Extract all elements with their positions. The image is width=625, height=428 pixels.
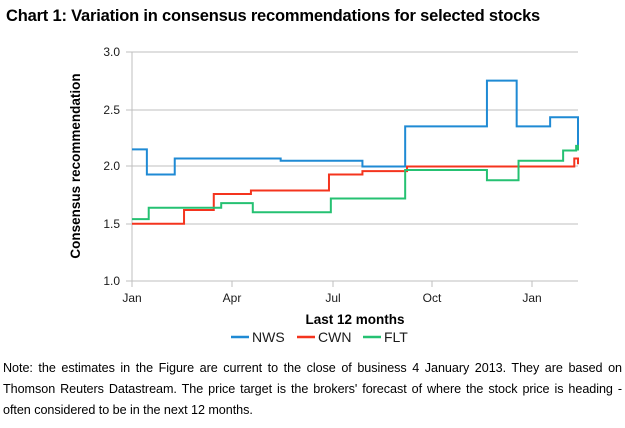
y-axis-title: Consensus recommendation [68, 73, 83, 258]
x-tick-label-oct: Oct [423, 291, 442, 305]
series-lines [132, 81, 578, 224]
chart-legend: NWS CWN FLT [231, 329, 408, 345]
x-axis [132, 281, 578, 287]
chart-figure: 3.0 2.5 2.0 1.5 1.0 Jan Apr Jul Oct Jan [0, 32, 625, 357]
legend-label-flt: FLT [384, 329, 408, 345]
legend-label-nws: NWS [252, 329, 285, 345]
y-tick-label-1: 2.0 [103, 159, 120, 173]
y-tick-label-3: 3.0 [103, 45, 120, 59]
x-tick-label-jul: Jul [325, 291, 340, 305]
x-tick-label-jan-end: Jan [522, 291, 541, 305]
series-line-nws [132, 81, 578, 175]
x-tick-label-apr: Apr [223, 291, 242, 305]
legend-label-cwn: CWN [318, 329, 351, 345]
y-tick-label-min: 1.0 [103, 274, 120, 288]
chart-svg: 3.0 2.5 2.0 1.5 1.0 Jan Apr Jul Oct Jan [0, 32, 625, 357]
y-tick-label-0: 1.5 [103, 217, 120, 231]
y-tick-label-2: 2.5 [103, 103, 120, 117]
x-tick-labels: Jan Apr Jul Oct Jan [122, 291, 541, 305]
series-line-cwn [132, 158, 578, 223]
chart-page: Chart 1: Variation in consensus recommen… [0, 0, 625, 428]
x-axis-title: Last 12 months [305, 312, 404, 327]
x-tick-label-jan-start: Jan [122, 291, 141, 305]
series-line-flt [132, 146, 578, 219]
chart-footnote: Note: the estimates in the Figure are cu… [3, 358, 622, 421]
y-tick-labels: 3.0 2.5 2.0 1.5 1.0 [103, 45, 120, 288]
y-axis [126, 52, 132, 281]
page-title: Chart 1: Variation in consensus recommen… [6, 6, 621, 26]
